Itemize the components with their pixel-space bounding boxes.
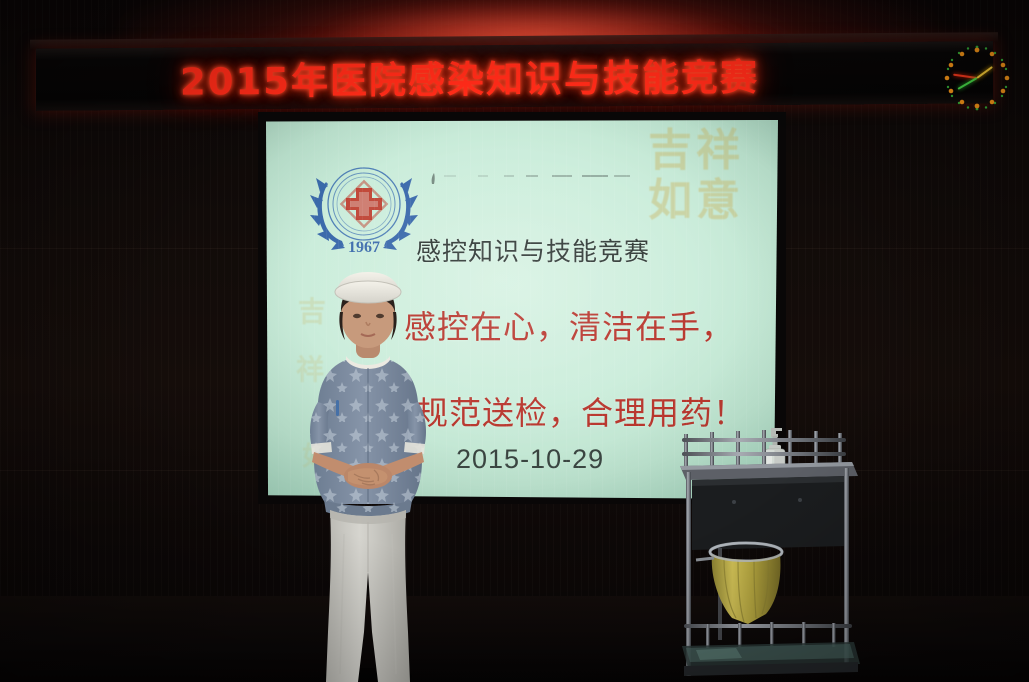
stainless-steel-trolley bbox=[676, 428, 862, 682]
stage-photo-scene: 2015年医院感染知识与技能竞赛 bbox=[0, 0, 1029, 682]
led-clock bbox=[938, 42, 1016, 114]
stage-floor bbox=[0, 596, 1029, 682]
led-banner-board: 2015年医院感染知识与技能竞赛 bbox=[36, 41, 993, 111]
led-banner-text: 2015年医院感染知识与技能竞赛 bbox=[36, 41, 993, 111]
nurse-presenter bbox=[296, 272, 440, 682]
